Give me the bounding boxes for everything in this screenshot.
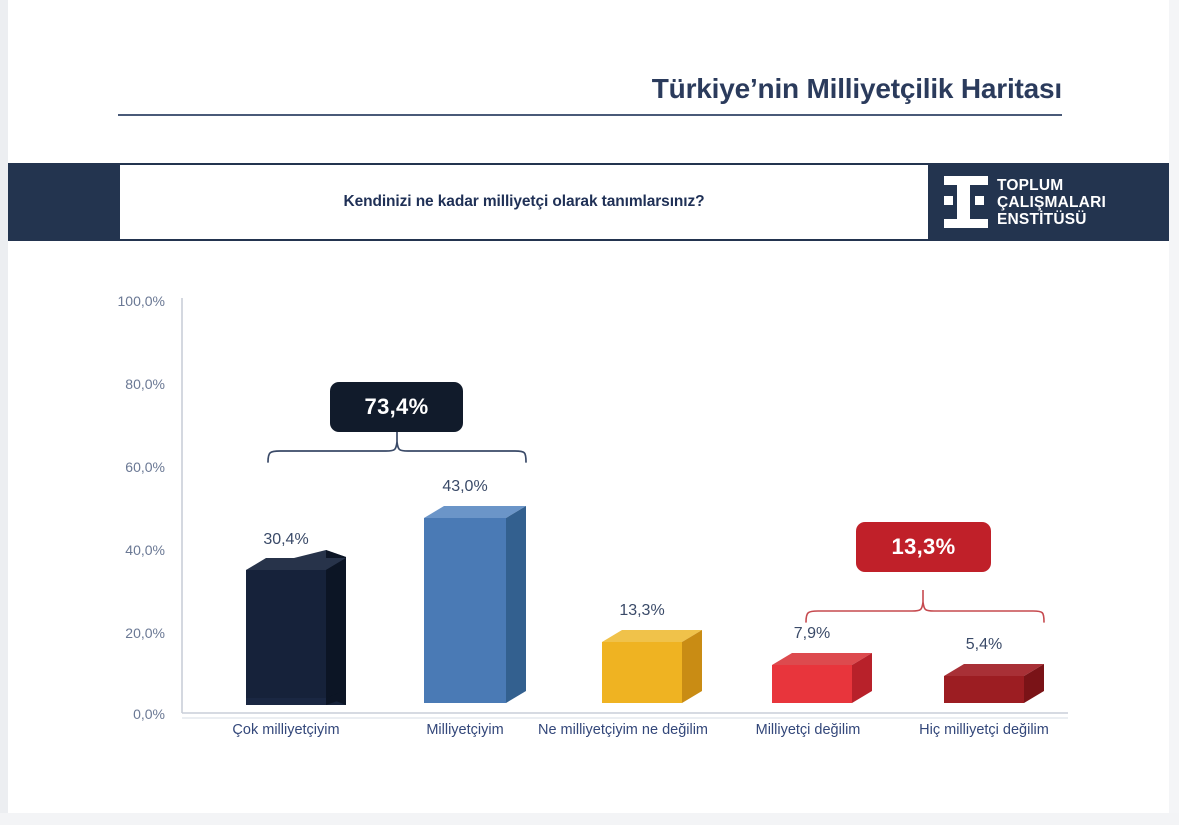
- bar-cok-milliyetciyim: [246, 550, 346, 705]
- bar-ne-milliyetciyim-ne-degilim: [602, 630, 702, 703]
- callout-non-nationalist-total: 13,3%: [856, 522, 991, 572]
- bar-value-label: 7,9%: [752, 625, 872, 643]
- slide-page: Türkiye’nin Milliyetçilik Haritası Kendi…: [0, 0, 1179, 825]
- survey-question: Kendinizi ne kadar milliyetçi olarak tan…: [344, 193, 705, 211]
- callout-nationalist-total: 73,4%: [330, 382, 463, 432]
- x-axis-label: Ne milliyetçiyim ne değilim: [518, 722, 728, 738]
- bar-milliyetciyim: [424, 506, 526, 703]
- logo-panel: TOPLUM ÇALIŞMALARI ENSTİTÜSÜ: [930, 163, 1169, 241]
- bar-value-label: 5,4%: [924, 636, 1044, 654]
- page-edge-bottom: [0, 813, 1179, 825]
- plot-canvas: [0, 250, 1179, 770]
- bar-milliyetci-degilim: [772, 653, 872, 703]
- x-axis-label: Hiç milliyetçi değilim: [884, 722, 1084, 738]
- header-band: Kendinizi ne kadar milliyetçi olarak tan…: [8, 163, 1169, 241]
- logo-line-1: TOPLUM: [997, 177, 1106, 194]
- bar-value-label: 43,0%: [405, 478, 525, 496]
- page-title: Türkiye’nin Milliyetçilik Haritası: [118, 72, 1062, 106]
- title-block: Türkiye’nin Milliyetçilik Haritası: [118, 72, 1062, 116]
- question-panel: Kendinizi ne kadar milliyetçi olarak tan…: [118, 163, 930, 241]
- logo: TOPLUM ÇALIŞMALARI ENSTİTÜSÜ: [930, 176, 1106, 228]
- logo-line-3: ENSTİTÜSÜ: [997, 211, 1106, 228]
- bar-hic-milliyetci-degilim: [944, 664, 1044, 703]
- header-accent-block: [8, 163, 118, 241]
- chart: 100,0% 80,0% 60,0% 40,0% 20,0% 0,0%: [0, 250, 1179, 770]
- brace-non-nationalist-group: [806, 602, 1044, 622]
- title-underline: [118, 114, 1062, 116]
- logo-line-2: ÇALIŞMALARI: [997, 194, 1106, 211]
- bar-value-label: 30,4%: [226, 531, 346, 549]
- x-axis-label: Çok milliyetçiyim: [196, 722, 376, 738]
- x-axis-label: Milliyetçi değilim: [723, 722, 893, 738]
- bar-value-label: 13,3%: [582, 602, 702, 620]
- brace-nationalist-group: [268, 442, 526, 462]
- logo-text: TOPLUM ÇALIŞMALARI ENSTİTÜSÜ: [997, 177, 1106, 228]
- institute-monogram-icon: [944, 176, 988, 228]
